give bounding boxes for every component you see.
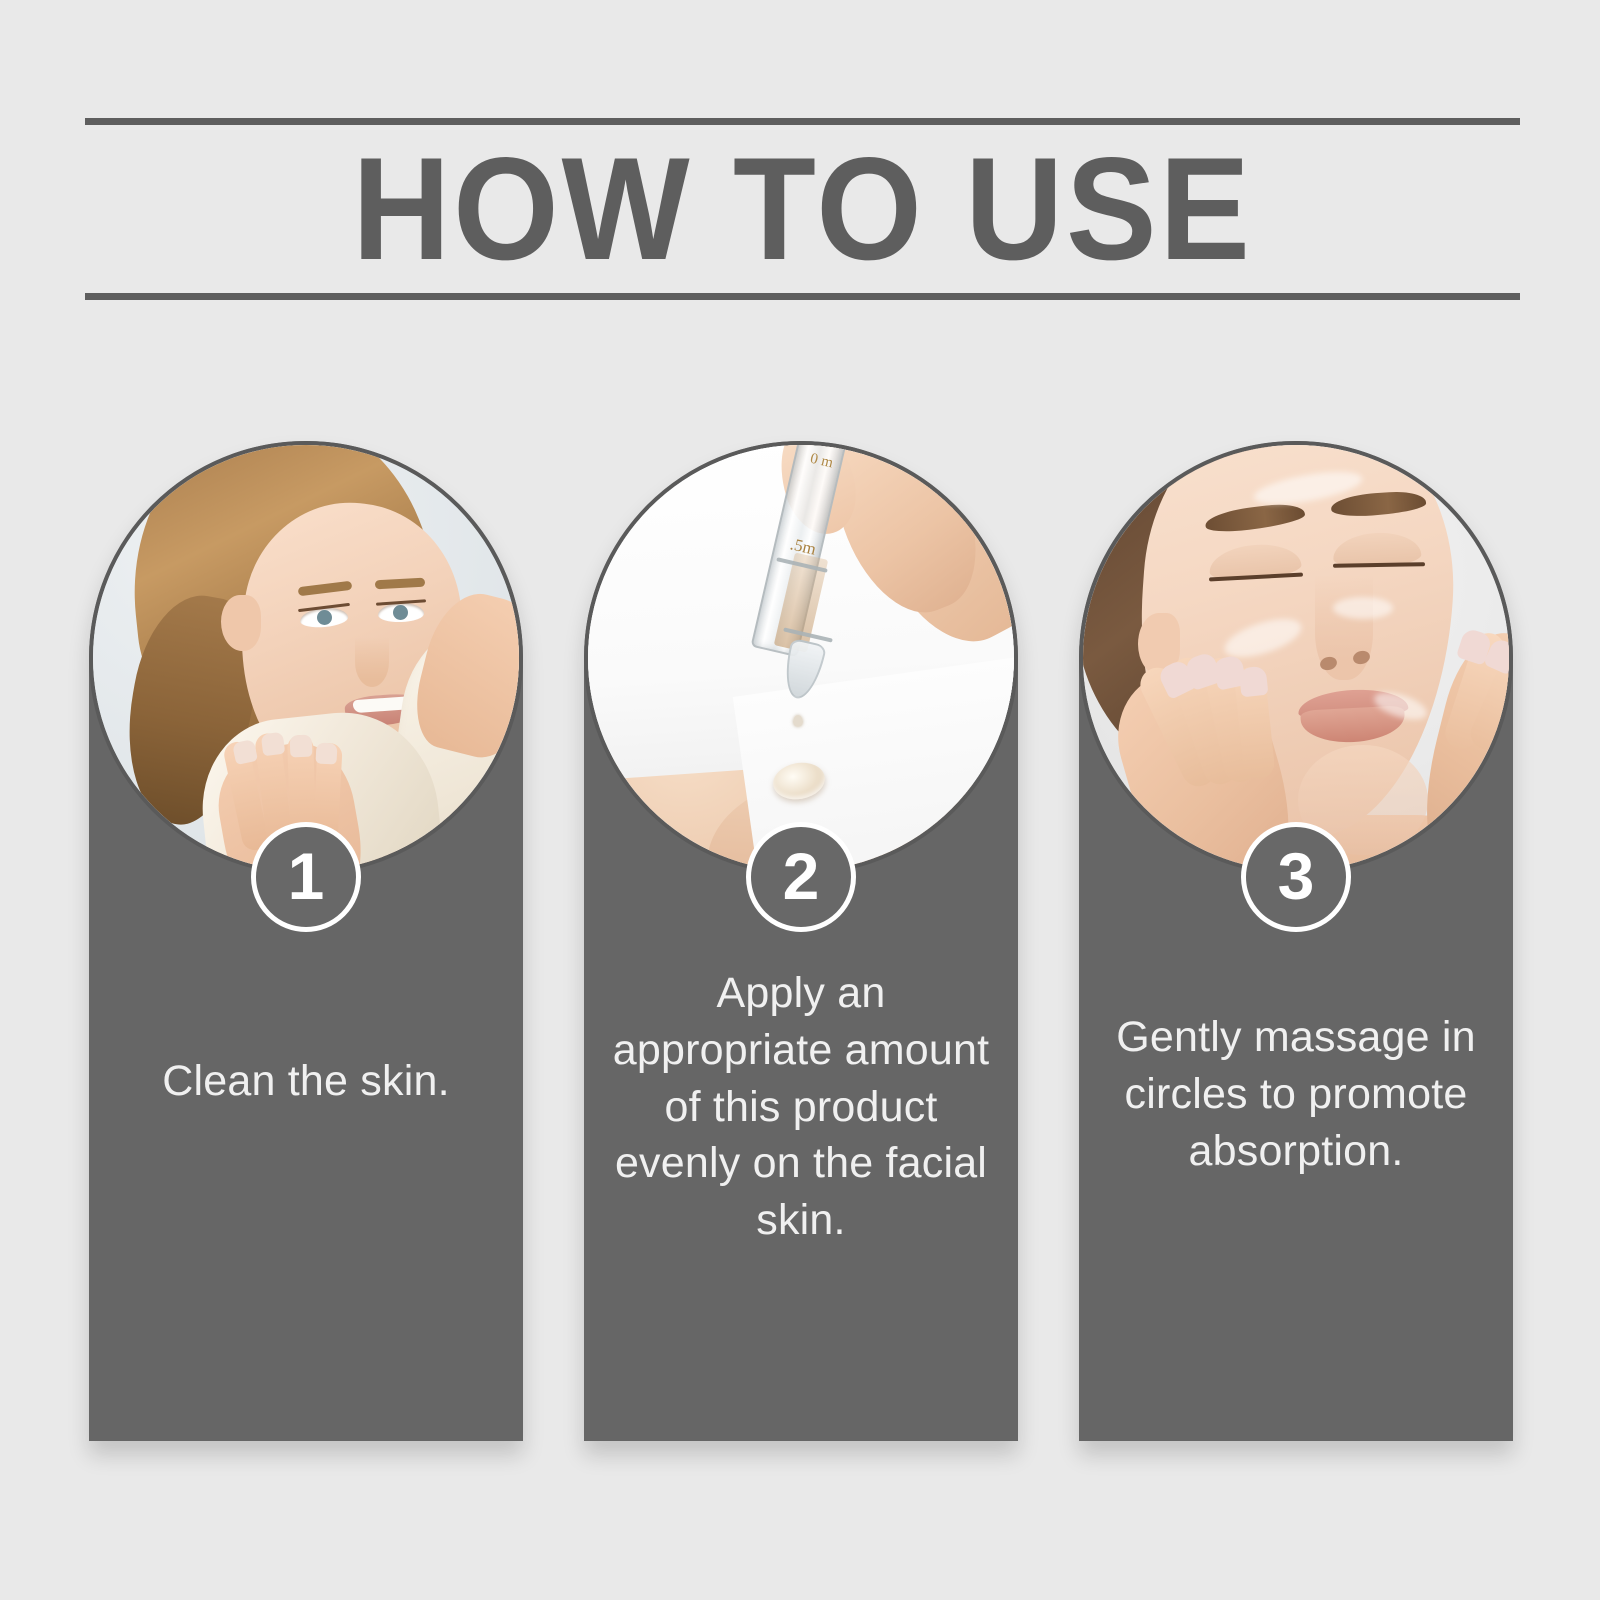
step-card-2: 0 m .5m 2 Apply an appropriate amount of… — [584, 441, 1018, 1441]
step-number-badge-3: 3 — [1241, 822, 1351, 932]
falling-droplet — [793, 715, 803, 727]
ear-shape — [221, 595, 261, 651]
fingernail-2 — [261, 732, 286, 757]
nose-shape — [355, 637, 389, 687]
fingernail-3 — [290, 735, 313, 758]
page-title: HOW TO USE — [135, 118, 1470, 300]
page-header: HOW TO USE — [85, 118, 1520, 300]
step-number-3: 3 — [1278, 843, 1315, 909]
step-number-badge-1: 1 — [251, 822, 361, 932]
step-2-photo-inner: 0 m .5m — [588, 445, 1014, 871]
step-3-photo-inner — [1083, 445, 1509, 871]
step-number-badge-2: 2 — [746, 822, 856, 932]
step-card-1: 1 Clean the skin. — [89, 441, 523, 1441]
step-caption-3: Gently massage in circles to promote abs… — [1099, 1009, 1493, 1179]
iris-left — [317, 610, 332, 625]
step-caption-1: Clean the skin. — [109, 1053, 503, 1110]
skin-glow-nose — [1333, 597, 1393, 619]
step-number-2: 2 — [783, 843, 820, 909]
iris-right — [393, 605, 408, 620]
step-caption-2: Apply an appropriate amount of this prod… — [604, 965, 998, 1249]
header-rule-bottom — [85, 293, 1520, 300]
step-card-3: 3 Gently massage in circles to promote a… — [1079, 441, 1513, 1441]
step-number-1: 1 — [288, 843, 325, 909]
step-1-photo — [89, 441, 523, 875]
step-3-photo — [1079, 441, 1513, 875]
steps-container: 1 Clean the skin. 0 m .5m — [89, 441, 1513, 1441]
step-2-photo: 0 m .5m — [584, 441, 1018, 875]
fingernail-left-4 — [1239, 666, 1269, 698]
step-1-photo-inner — [93, 445, 519, 871]
fingernail-4 — [315, 742, 337, 764]
